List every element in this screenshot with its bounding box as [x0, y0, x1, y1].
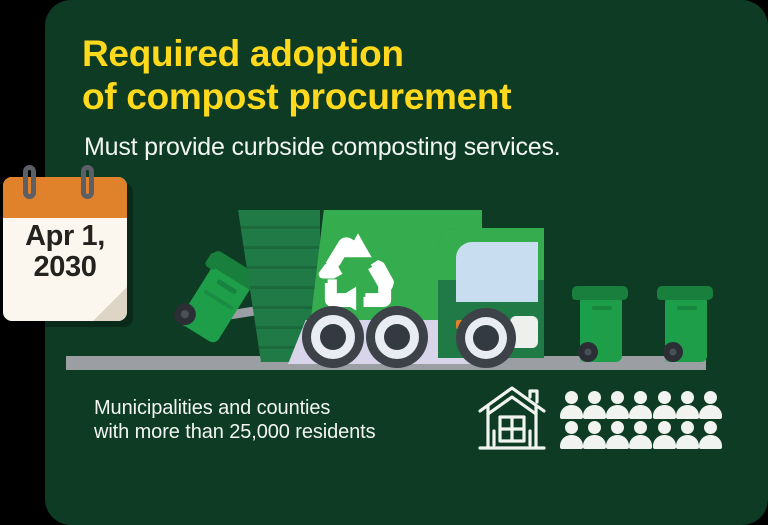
footnote-line-2: with more than 25,000 residents [94, 420, 376, 444]
calendar-ring-right [81, 165, 94, 199]
person-icon [560, 421, 583, 449]
page-title: Required adoption of compost procurement [82, 32, 702, 119]
calendar-folded-corner [93, 287, 127, 321]
truck-wheel-front [456, 308, 516, 368]
person-icon [699, 391, 722, 419]
person-icon [676, 421, 699, 449]
person-icon [629, 391, 652, 419]
calendar-header [3, 177, 127, 218]
person-icon [583, 391, 606, 419]
person-icon [606, 421, 629, 449]
recycle-icon [312, 226, 404, 318]
person-icon [583, 421, 606, 449]
calendar-date-text: Apr 1, 2030 [3, 221, 127, 284]
curbside-bin-2 [655, 278, 717, 364]
recycling-truck-illustration [160, 196, 580, 368]
footnote: Municipalities and counties with more th… [94, 396, 376, 445]
infographic-canvas: Required adoption of compost procurement… [0, 0, 768, 525]
person-icon [699, 421, 722, 449]
headline-line-1: Required adoption [82, 32, 702, 75]
person-icon [676, 391, 699, 419]
calendar-body: Apr 1, 2030 [3, 177, 127, 321]
calendar-ring-left [23, 165, 36, 199]
person-icon [653, 421, 676, 449]
headline-line-2: of compost procurement [82, 75, 702, 118]
people-group-icon [560, 391, 722, 451]
truck-wheel-rear-1 [302, 306, 364, 368]
calendar-date-badge: Apr 1, 2030 [3, 177, 133, 327]
truck-cab-window [456, 242, 538, 302]
calendar-date-line-1: Apr 1, [25, 220, 105, 252]
house-icon [476, 383, 548, 455]
person-icon [560, 391, 583, 419]
person-icon [606, 391, 629, 419]
person-icon [629, 421, 652, 449]
footnote-line-1: Municipalities and counties [94, 396, 376, 420]
calendar-date-line-2: 2030 [3, 252, 127, 283]
truck-wheel-rear-2 [366, 306, 428, 368]
subtitle: Must provide curbside composting service… [84, 133, 724, 162]
curbside-bin-1 [570, 278, 632, 364]
person-icon [653, 391, 676, 419]
